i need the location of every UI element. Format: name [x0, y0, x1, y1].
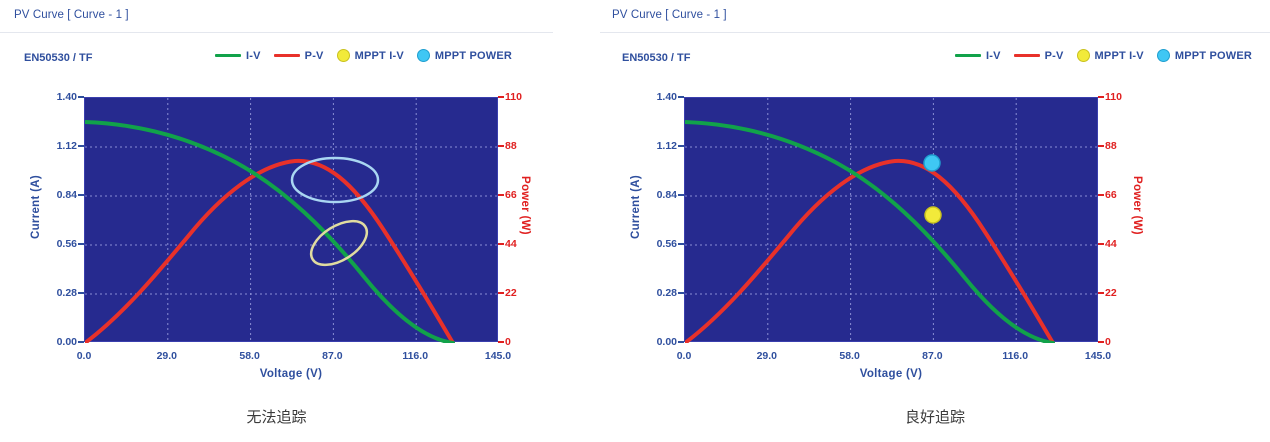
legend-label: MPPT POWER [1175, 50, 1252, 62]
y-tickmark [78, 243, 84, 245]
pv-line-swatch-icon [1014, 54, 1040, 57]
pv-curve-panel-left: PV Curve [ Curve - 1 ] EN50530 / TF I-V … [0, 0, 553, 398]
y-tickmark [78, 292, 84, 294]
x-tick-label: 29.0 [757, 350, 777, 362]
y2-tick-label: 66 [505, 189, 517, 201]
y2-tickmark [1098, 341, 1104, 343]
y-tickmark [678, 96, 684, 98]
y-tick-label: 0.84 [57, 189, 77, 201]
y2-tickmark [1098, 145, 1104, 147]
y2-tick-label: 88 [1105, 140, 1117, 152]
caption-right: 良好追踪 [600, 406, 1270, 427]
legend-label: I-V [246, 50, 261, 62]
y2-tickmark [1098, 243, 1104, 245]
y2-tickmark [498, 292, 504, 294]
y-axis-title-power: Power (W) [1131, 176, 1143, 235]
y2-tickmark [1098, 194, 1104, 196]
legend-item-mppt-iv: MPPT I-V [1077, 49, 1144, 62]
y-tickmark [78, 145, 84, 147]
y2-tick-label: 22 [505, 287, 517, 299]
plot-area-right: 1.40 1.12 0.84 0.56 0.28 0.00 110 88 66 … [684, 97, 1098, 342]
y-axis-title-current: Current (A) [30, 175, 42, 239]
y2-tick-label: 44 [1105, 238, 1117, 250]
x-tick-label: 116.0 [402, 350, 428, 362]
curves-svg [685, 98, 1099, 343]
legend-label: MPPT I-V [355, 50, 404, 62]
y-axis-title-current: Current (A) [630, 175, 642, 239]
iv-line-swatch-icon [955, 54, 981, 57]
page-title: PV Curve [ Curve - 1 ] [14, 9, 129, 21]
y-tickmark [78, 194, 84, 196]
mppt-iv-dot-icon [1077, 49, 1090, 62]
gridlines [85, 98, 499, 343]
y-tick-label: 0.00 [57, 336, 77, 348]
y2-tickmark [1098, 96, 1104, 98]
y-tick-label: 1.12 [657, 140, 677, 152]
y-tickmark [678, 145, 684, 147]
page-title: PV Curve [ Curve - 1 ] [612, 9, 727, 21]
y-tickmark [678, 292, 684, 294]
legend-label: I-V [986, 50, 1001, 62]
mppt-power-dot-icon [1157, 49, 1170, 62]
plot-area-left: 1.40 1.12 0.84 0.56 0.28 0.00 110 88 66 … [84, 97, 498, 342]
plot-canvas [684, 97, 1098, 342]
x-tick-label: 145.0 [1085, 350, 1111, 362]
x-tick-label: 58.0 [239, 350, 259, 362]
y-tick-label: 0.84 [657, 189, 677, 201]
y-tickmark [78, 341, 84, 343]
y-tick-label: 0.28 [657, 287, 677, 299]
iv-line-swatch-icon [215, 54, 241, 57]
y2-tickmark [498, 96, 504, 98]
plot-canvas [84, 97, 498, 342]
iv-curve-path [85, 122, 453, 343]
y2-tick-label: 110 [1105, 91, 1122, 103]
chart-legend: I-V P-V MPPT I-V MPPT POWER [955, 49, 1252, 62]
pv-line-swatch-icon [274, 54, 300, 57]
y-tickmark [678, 341, 684, 343]
x-tick-label: 0.0 [77, 350, 92, 362]
y2-tick-label: 0 [1105, 336, 1111, 348]
mppt-power-annotation-ellipse [292, 158, 378, 202]
y-tickmark [78, 96, 84, 98]
legend-label: P-V [305, 50, 324, 62]
legend-label: P-V [1045, 50, 1064, 62]
standard-label: EN50530 / TF [24, 52, 92, 64]
legend-label: MPPT POWER [435, 50, 512, 62]
legend-item-mppt-power: MPPT POWER [417, 49, 512, 62]
mppt-iv-dot-icon [337, 49, 350, 62]
y-tick-label: 1.40 [657, 91, 677, 103]
x-tick-label: 0.0 [677, 350, 692, 362]
y-tickmark [678, 194, 684, 196]
y2-tickmark [498, 145, 504, 147]
mppt-iv-marker [925, 207, 941, 223]
legend-label: MPPT I-V [1095, 50, 1144, 62]
y-tick-label: 0.56 [57, 238, 77, 250]
y2-tick-label: 22 [1105, 287, 1117, 299]
iv-curve-path [685, 122, 1053, 343]
gridlines [685, 98, 1099, 343]
x-tick-label: 87.0 [322, 350, 342, 362]
x-axis-title-voltage: Voltage (V) [84, 368, 498, 380]
mppt-power-marker [924, 155, 940, 171]
y2-tickmark [498, 194, 504, 196]
y-tick-label: 1.40 [57, 91, 77, 103]
pv-curve-panel-right: PV Curve [ Curve - 1 ] EN50530 / TF I-V … [600, 0, 1270, 398]
y2-tick-label: 110 [505, 91, 522, 103]
y2-tickmark [498, 243, 504, 245]
x-axis-title-voltage: Voltage (V) [684, 368, 1098, 380]
legend-item-pv: P-V [1014, 50, 1064, 62]
title-divider [600, 32, 1270, 33]
y2-tickmark [1098, 292, 1104, 294]
x-tick-label: 116.0 [1002, 350, 1028, 362]
legend-item-iv: I-V [215, 50, 261, 62]
title-divider [0, 32, 553, 33]
figure-root: PV Curve [ Curve - 1 ] EN50530 / TF I-V … [0, 0, 1270, 442]
curves-svg [85, 98, 499, 343]
y-tick-label: 0.56 [657, 238, 677, 250]
x-tick-label: 29.0 [157, 350, 177, 362]
x-tick-label: 145.0 [485, 350, 511, 362]
y-tick-label: 0.28 [57, 287, 77, 299]
x-tick-label: 58.0 [839, 350, 859, 362]
legend-item-pv: P-V [274, 50, 324, 62]
y-tick-label: 1.12 [57, 140, 77, 152]
legend-item-iv: I-V [955, 50, 1001, 62]
y-tickmark [678, 243, 684, 245]
y2-tick-label: 0 [505, 336, 511, 348]
legend-item-mppt-power: MPPT POWER [1157, 49, 1252, 62]
y2-tickmark [498, 341, 504, 343]
standard-label: EN50530 / TF [622, 52, 690, 64]
y-tick-label: 0.00 [657, 336, 677, 348]
y-axis-title-power: Power (W) [519, 176, 531, 235]
caption-left: 无法追踪 [0, 406, 553, 427]
y2-tick-label: 44 [505, 238, 517, 250]
legend-item-mppt-iv: MPPT I-V [337, 49, 404, 62]
y2-tick-label: 66 [1105, 189, 1117, 201]
x-tick-label: 87.0 [922, 350, 942, 362]
mppt-power-dot-icon [417, 49, 430, 62]
chart-legend: I-V P-V MPPT I-V MPPT POWER [215, 49, 512, 62]
y2-tick-label: 88 [505, 140, 517, 152]
